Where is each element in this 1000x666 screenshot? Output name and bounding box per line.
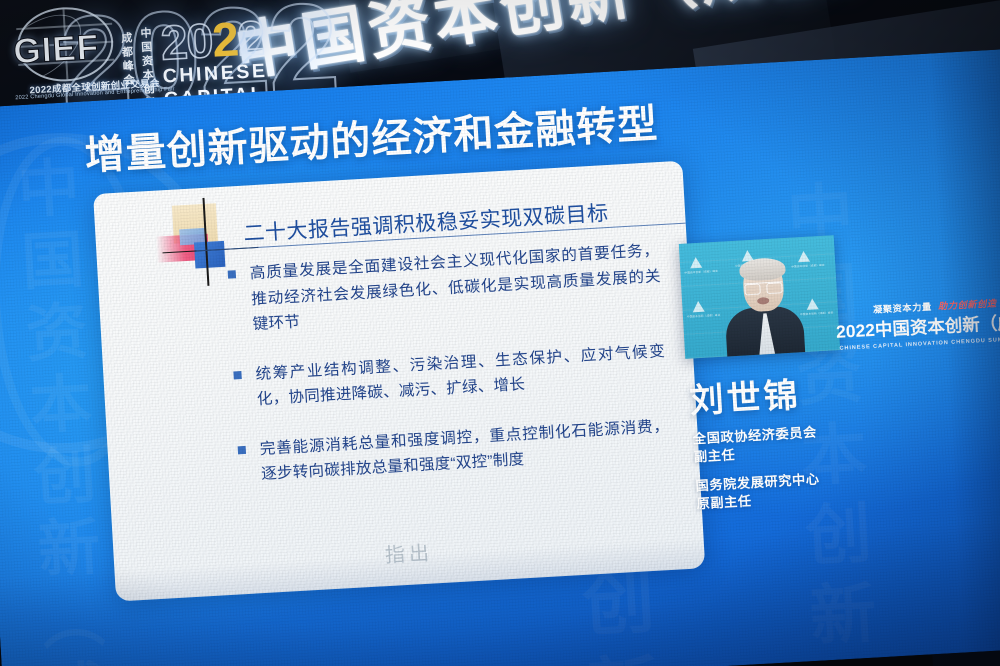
cci-year-d1: 2 bbox=[159, 16, 188, 70]
backdrop-logo-text: 中国资本创新（成都）峰会 bbox=[800, 310, 834, 316]
speaker-video-feed: 中国资本创新（成都）峰会 中国资本创新（成都）峰会 中国资本创新（成都）峰会 中… bbox=[679, 235, 840, 359]
backdrop-logo-text: 中国资本创新（成都）峰会 bbox=[791, 263, 825, 269]
glasses-icon bbox=[744, 281, 783, 293]
speaker-name: 刘世锦 bbox=[688, 367, 802, 422]
led-screen-surface: 中国资本创新（成都）峰会 中国资本创新（成都）峰会 中国资本创新（成都）峰会 增… bbox=[0, 47, 1000, 666]
vertical-text-chengdu-summit: 成都峰会 bbox=[117, 32, 136, 89]
slide-bullet-item: 完善能源消耗总量和强度调控，重点控制化石能源消费，逐步转向碳排放总量和强度“双控… bbox=[237, 413, 671, 488]
backdrop-logo-text: 中国资本创新（成都）峰会 bbox=[687, 313, 721, 319]
cci-year-d4: 2 bbox=[236, 12, 265, 66]
deco-square-blue bbox=[194, 241, 225, 269]
bullet-square-icon bbox=[238, 445, 246, 453]
backdrop-logo-icon bbox=[692, 301, 706, 313]
slide-bullet-list: 高质量发展是全面建设社会主义现代化国家的首要任务，推动经济社会发展绿色化、低碳化… bbox=[227, 238, 673, 513]
slide-decoration bbox=[154, 202, 236, 280]
slide-bullet-item: 统筹产业结构调整、污染治理、生态保护、应对气候变化，协同推进降碳、减污、扩绿、增… bbox=[233, 339, 667, 414]
bullet-text: 完善能源消耗总量和强度调控，重点控制化石能源消费，逐步转向碳排放总量和强度“双控… bbox=[259, 413, 671, 487]
presentation-slide: 二十大报告强调积极稳妥实现双碳目标 高质量发展是全面建设社会主义现代化国家的首要… bbox=[93, 161, 705, 602]
backdrop-logo-text: 中国资本创新（成都）峰会 bbox=[684, 269, 718, 275]
stage-photo: 中国资本创新（成都）峰会 2022 GIEF 2022成都全球创新创业交易会 2… bbox=[0, 0, 1000, 666]
backdrop-logo-icon bbox=[690, 257, 704, 269]
backdrop-logo-icon bbox=[797, 251, 811, 263]
backdrop-logo-icon bbox=[806, 298, 820, 310]
event-slogan-a: 凝聚资本力量 bbox=[873, 302, 932, 315]
speaker-title-primary: 全国政协经济委员会 副主任 bbox=[692, 424, 818, 467]
speaker-portrait bbox=[728, 260, 799, 357]
speaker-title-secondary: 国务院发展研究中心 原副主任 bbox=[695, 470, 821, 513]
cci-year-d2: 0 bbox=[185, 15, 214, 69]
bullet-text: 统筹产业结构调整、污染治理、生态保护、应对气候变化，协同推进降碳、减污、扩绿、增… bbox=[255, 339, 667, 413]
led-screen: 中国资本创新（成都）峰会 中国资本创新（成都）峰会 中国资本创新（成都）峰会 增… bbox=[0, 47, 1000, 666]
cci-year-d3: 2 bbox=[211, 13, 240, 67]
bullet-square-icon bbox=[228, 270, 236, 278]
bullet-square-icon bbox=[233, 371, 241, 379]
